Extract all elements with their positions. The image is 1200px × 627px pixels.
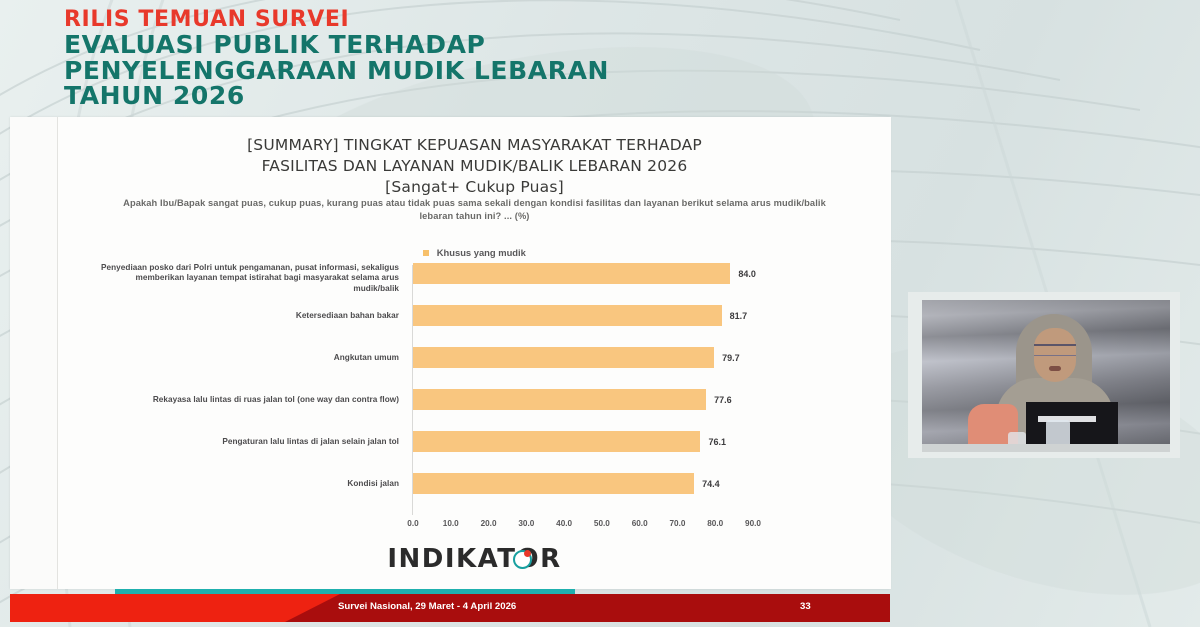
x-tick-label: 60.0 [632, 519, 648, 528]
slide-title: [SUMMARY] TINGKAT KEPUASAN MASYARAKAT TE… [88, 135, 861, 198]
headline-line-1: RILIS TEMUAN SURVEI [64, 8, 704, 32]
chart-row: Penyediaan posko dari Polri untuk pengam… [58, 263, 891, 285]
bar-1 [413, 305, 722, 326]
x-tick-label: 90.0 [745, 519, 761, 528]
bar-category-label: Kondisi jalan [99, 479, 399, 489]
bar-category-label: Pengaturan lalu lintas di jalan selain j… [99, 437, 399, 447]
x-tick-label: 0.0 [407, 519, 418, 528]
video-border-top [908, 292, 1180, 300]
slide-content: [SUMMARY] TINGKAT KEPUASAN MASYARAKAT TE… [57, 117, 891, 589]
bar-0 [413, 263, 730, 284]
bar-4 [413, 431, 700, 452]
headline-line-4: TAHUN 2026 [64, 83, 704, 109]
video-border-left [908, 292, 922, 458]
headline-line-3: PENYELENGGARAAN MUDIK LEBARAN [64, 58, 704, 84]
x-tick-label: 20.0 [481, 519, 497, 528]
bar-value-label: 76.1 [708, 437, 726, 447]
bar-category-label: Penyediaan posko dari Polri untuk pengam… [99, 263, 399, 294]
chart-x-axis: 0.010.020.030.040.050.060.070.080.090.0 [413, 519, 753, 533]
x-tick-label: 80.0 [707, 519, 723, 528]
speaker-video-inset[interactable] [908, 292, 1180, 458]
speaker-mouth [1049, 366, 1061, 371]
logo-text: INDIKATOR [387, 544, 561, 574]
bar-category-label: Rekayasa lalu lintas di ruas jalan tol (… [99, 395, 399, 405]
headline-block: RILIS TEMUAN SURVEI EVALUASI PUBLIK TERH… [64, 8, 704, 109]
bar-2 [413, 347, 714, 368]
bar-3 [413, 389, 706, 410]
video-border-right [1170, 292, 1180, 458]
bar-5 [413, 473, 694, 494]
bar-value-label: 84.0 [738, 269, 756, 279]
chart-row: Rekayasa lalu lintas di ruas jalan tol (… [58, 389, 891, 411]
slide-title-row-1: [SUMMARY] TINGKAT KEPUASAN MASYARAKAT TE… [88, 135, 861, 156]
logo-circle-icon [513, 550, 532, 569]
speaker-glasses-icon [1034, 344, 1076, 356]
chart-row: Angkutan umum 79.7 [58, 347, 891, 369]
x-tick-label: 50.0 [594, 519, 610, 528]
bar-value-label: 79.7 [722, 353, 740, 363]
x-tick-label: 70.0 [669, 519, 685, 528]
x-tick-label: 40.0 [556, 519, 572, 528]
slide-panel: [SUMMARY] TINGKAT KEPUASAN MASYARAKAT TE… [10, 117, 890, 589]
bar-value-label: 74.4 [702, 479, 720, 489]
chart-row: Pengaturan lalu lintas di jalan selain j… [58, 431, 891, 453]
desk-surface [922, 444, 1170, 452]
slide-title-row-3: [Sangat+ Cukup Puas] [88, 177, 861, 198]
logo-wordmark: INDIKATOR [387, 544, 561, 574]
indikator-logo: INDIKATOR [58, 544, 891, 574]
video-border-bottom [908, 452, 1180, 458]
footer-source-text: Survei Nasional, 29 Maret - 4 April 2026 [338, 601, 516, 612]
chart-row: Ketersediaan bahan bakar 81.7 [58, 305, 891, 327]
slide-title-row-2: FASILITAS DAN LAYANAN MUDIK/BALIK LEBARA… [88, 156, 861, 177]
chart-row: Kondisi jalan 74.4 [58, 473, 891, 495]
bar-value-label: 77.6 [714, 395, 732, 405]
bar-chart: Penyediaan posko dari Polri untuk pengam… [58, 257, 891, 529]
bar-value-label: 81.7 [730, 311, 748, 321]
footer-page-number: 33 [800, 601, 811, 612]
legend-swatch-icon [423, 250, 429, 256]
bar-category-label: Ketersediaan bahan bakar [99, 311, 399, 321]
x-tick-label: 30.0 [518, 519, 534, 528]
bar-category-label: Angkutan umum [99, 353, 399, 363]
headline-line-2: EVALUASI PUBLIK TERHADAP [64, 32, 704, 58]
x-tick-label: 10.0 [443, 519, 459, 528]
footer-bar: Survei Nasional, 29 Maret - 4 April 2026… [10, 594, 890, 622]
slide-subtitle: Apakah Ibu/Bapak sangat puas, cukup puas… [118, 197, 831, 222]
